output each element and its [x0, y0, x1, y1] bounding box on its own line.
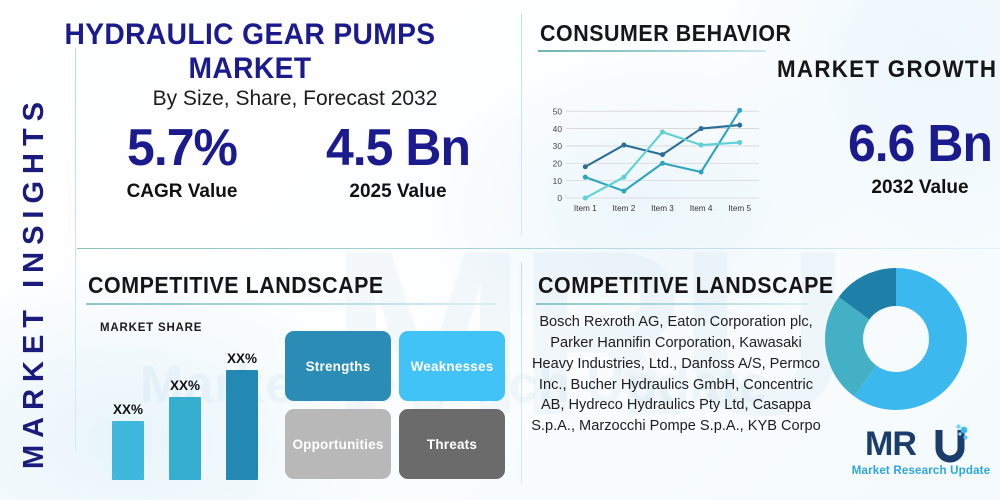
market-share-bar: XX% [226, 370, 258, 480]
svg-text:Item 3: Item 3 [651, 204, 674, 213]
swot-cell-opportunities[interactable]: Opportunities [285, 409, 391, 479]
market-share-bar-label: XX% [112, 402, 144, 417]
market-share-bar-fill [169, 397, 201, 480]
kpi-2032: 6.6 Bn 2032 Value [830, 118, 1000, 199]
market-share-donut-chart [825, 268, 967, 410]
section-heading-competitive-landscape-right: COMPETITIVE LANDSCAPE [538, 272, 834, 299]
market-share-bar-fill [226, 370, 258, 480]
section-heading-consumer-behavior: CONSUMER BEHAVIOR [540, 20, 792, 47]
market-share-bar-chart: MARKET SHARE XX%XX%XX% [100, 322, 280, 480]
svg-text:MR: MR [865, 425, 916, 463]
mru-logo-icon: MR [846, 424, 996, 464]
market-share-bar-label: XX% [169, 378, 201, 393]
infographic-page: MRU Market Research Update MARKET INSIGH… [0, 0, 1000, 500]
kpi-2025-label: 2025 Value [308, 181, 488, 203]
kpi-cagr: 5.7% CAGR Value [92, 122, 272, 203]
section-heading-market-growth: MARKET GROWTH [777, 56, 997, 84]
kpi-cagr-label: CAGR Value [92, 181, 272, 203]
page-subtitle: By Size, Share, Forecast 2032 [75, 87, 515, 111]
svg-text:Item 2: Item 2 [613, 204, 636, 213]
svg-text:0: 0 [557, 193, 562, 203]
brand-logo: MR Market Research Update [846, 424, 996, 477]
kpi-2025: 4.5 Bn 2025 Value [308, 122, 488, 203]
svg-text:10: 10 [553, 176, 563, 186]
svg-text:Item 1: Item 1 [574, 204, 597, 213]
swot-grid: StrengthsWeaknessesOpportunitiesThreats [285, 331, 505, 479]
section-heading-competitive-landscape-left: COMPETITIVE LANDSCAPE [88, 272, 384, 299]
svg-text:50: 50 [553, 106, 563, 116]
market-growth-line-chart: 01020304050Item 1Item 2Item 3Item 4Item … [540, 100, 765, 218]
svg-text:Item 5: Item 5 [728, 204, 751, 213]
kpi-cagr-value: 5.7% [96, 122, 269, 174]
page-title: HYDRAULIC GEAR PUMPS MARKET [15, 18, 485, 86]
section-rule-competitive-landscape-left [86, 303, 496, 305]
svg-text:40: 40 [553, 124, 563, 134]
swot-cell-weaknesses[interactable]: Weaknesses [399, 331, 505, 401]
side-label-market-insights: MARKET INSIGHTS [4, 62, 64, 500]
swot-cell-strengths[interactable]: Strengths [285, 331, 391, 401]
market-share-bar-label: XX% [226, 351, 258, 366]
svg-text:30: 30 [553, 141, 563, 151]
vertical-divider-bottom [521, 262, 522, 484]
kpi-2025-value: 4.5 Bn [312, 122, 485, 174]
market-share-bar-fill [112, 421, 144, 480]
svg-text:20: 20 [553, 158, 563, 168]
market-share-bar: XX% [169, 397, 201, 480]
vertical-divider-top [521, 14, 522, 236]
kpi-2032-value: 6.6 Bn [834, 118, 1000, 170]
kpi-2032-label: 2032 Value [830, 177, 1000, 199]
logo-tagline: Market Research Update [846, 465, 996, 477]
horizontal-divider [77, 248, 1000, 249]
market-share-title: MARKET SHARE [100, 322, 202, 334]
svg-text:Item 4: Item 4 [690, 204, 713, 213]
swot-cell-threats[interactable]: Threats [399, 409, 505, 479]
company-list: Bosch Rexroth AG, Eaton Corporation plc,… [531, 312, 821, 437]
market-share-bar: XX% [112, 421, 144, 480]
section-rule-competitive-landscape-right [536, 303, 808, 305]
section-rule-consumer-behavior [538, 50, 766, 52]
